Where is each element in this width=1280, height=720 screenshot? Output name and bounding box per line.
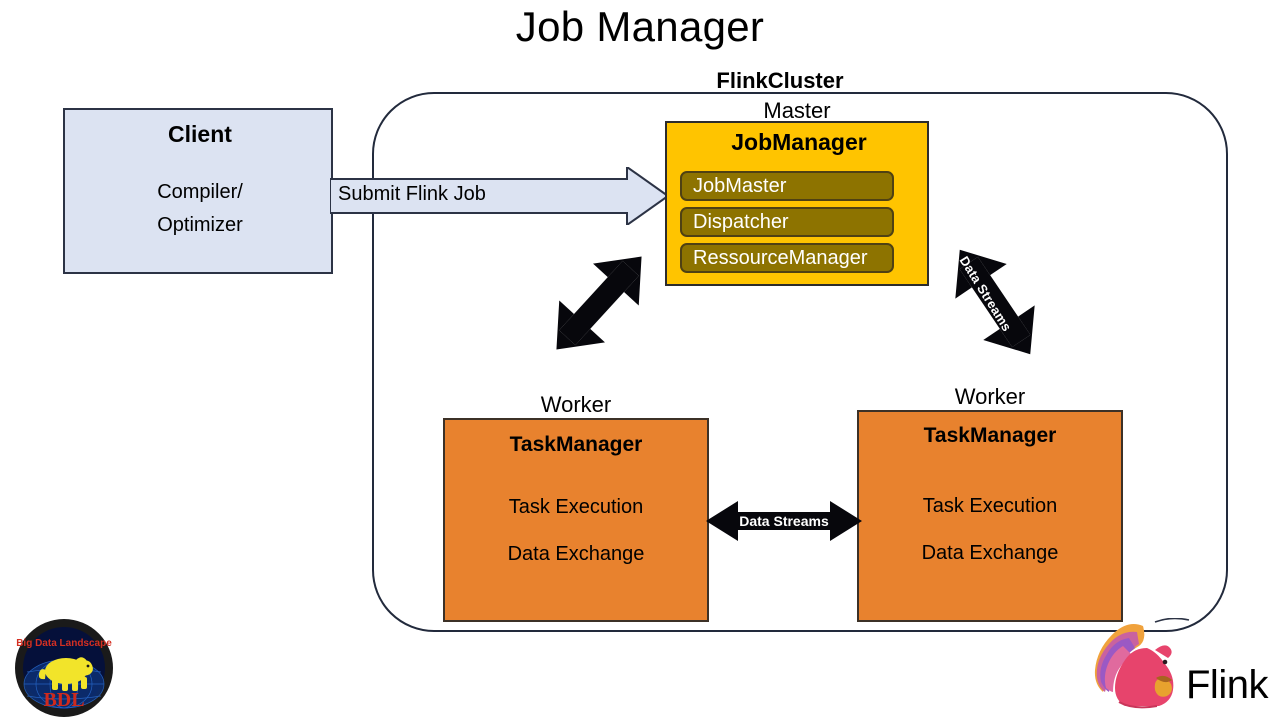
worker-role-label-left: Worker [443,392,709,418]
taskmanager-title: TaskManager [445,433,707,457]
taskmanager-title: TaskManager [859,424,1121,448]
taskmanager-box-right: TaskManager Task Execution Data Exchange [857,410,1123,622]
client-box: Client Compiler/ Optimizer [63,108,333,274]
worker-role-label-right: Worker [857,384,1123,410]
client-detail-line: Compiler/ [65,181,335,204]
submit-flink-job-label: Submit Flink Job [338,179,638,209]
client-title: Client [65,121,335,148]
svg-text:BDL: BDL [43,689,84,711]
jobmanager-box: JobManager JobMaster Dispatcher Ressourc… [665,121,929,286]
page-title: Job Manager [0,2,1280,52]
bdl-logo: Big Data Landscape BDL [14,618,114,718]
taskmanager-detail-line: Task Execution [445,496,707,519]
flink-logo [1085,618,1195,718]
big-data-landscape-logo-icon: Big Data Landscape BDL [14,618,114,718]
client-detail-line: Optimizer [65,214,335,237]
jobmanager-component-jobmaster: JobMaster [680,171,894,201]
jobmanager-component-dispatcher: Dispatcher [680,207,894,237]
flink-wordmark: Flink [1186,662,1268,708]
flink-squirrel-icon [1085,618,1195,718]
diagram-canvas: Job Manager FlinkCluster Client Compiler… [0,0,1280,720]
data-stream-label-between-workers: Data Streams [706,512,862,530]
svg-text:Big Data Landscape: Big Data Landscape [16,638,112,649]
taskmanager-detail-line: Task Execution [859,495,1121,518]
jobmanager-component-ressourcemanager: RessourceManager [680,243,894,273]
taskmanager-detail-line: Data Exchange [859,542,1121,565]
taskmanager-detail-line: Data Exchange [445,543,707,566]
jobmanager-title: JobManager [667,129,931,156]
flink-cluster-label: FlinkCluster [640,68,920,94]
taskmanager-box-left: TaskManager Task Execution Data Exchange [443,418,709,622]
